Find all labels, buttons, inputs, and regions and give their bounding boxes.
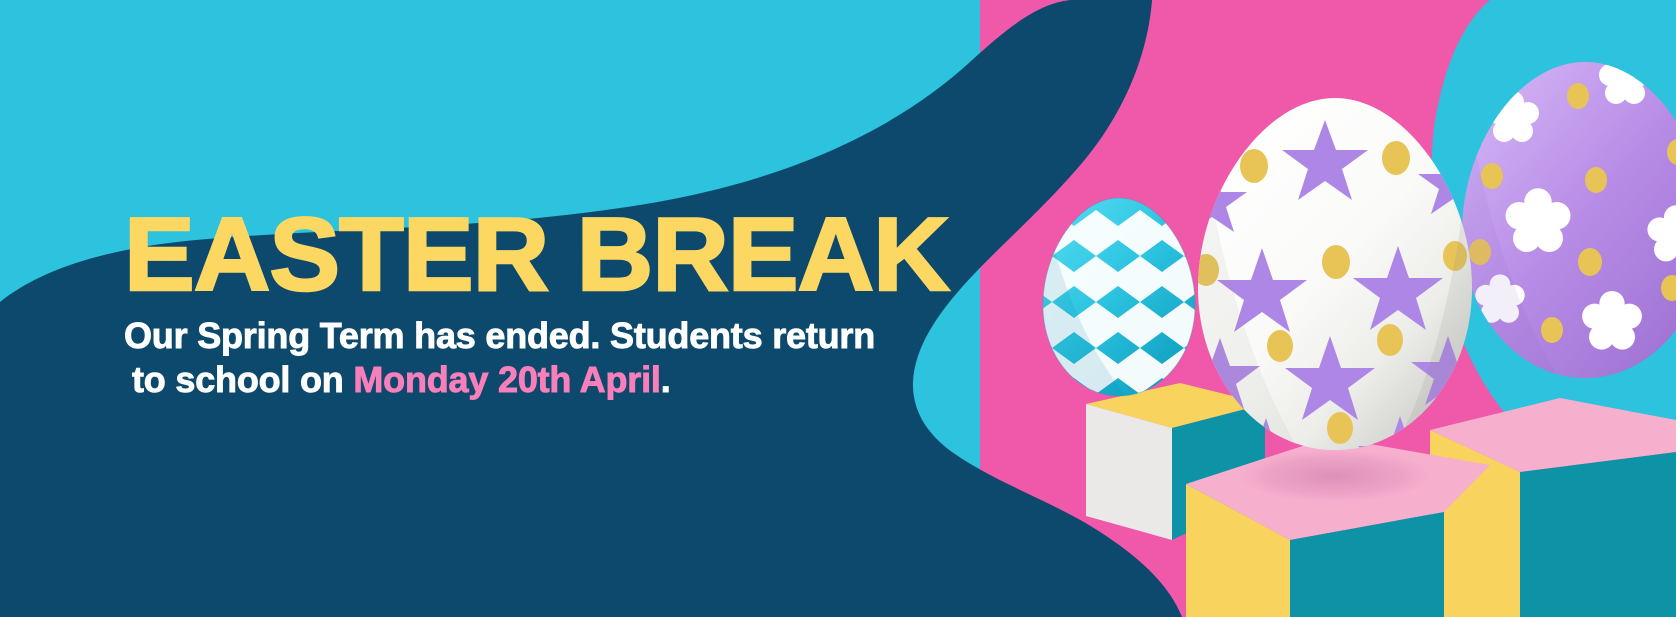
easter-break-banner: EASTER BREAK Our Spring Term has ended. …	[0, 0, 1676, 617]
chevron-egg	[1030, 198, 1206, 400]
return-date-accent: Monday 20th April	[353, 359, 660, 400]
subtitle-line-2-prefix: to school on	[132, 359, 353, 400]
banner-subtitle: Our Spring Term has ended. Students retu…	[124, 314, 944, 403]
yellow-pedestal-right	[1430, 398, 1676, 617]
flower-egg	[1462, 53, 1676, 380]
star-egg-contact-shadow	[1239, 450, 1431, 502]
white-pedestal-shade	[1086, 404, 1172, 540]
subtitle-line-1: Our Spring Term has ended. Students retu…	[124, 315, 875, 356]
right-pedestal-side	[1520, 452, 1676, 617]
page-title: EASTER BREAK	[124, 208, 960, 304]
subtitle-period: .	[661, 359, 671, 400]
banner-text-block: EASTER BREAK Our Spring Term has ended. …	[124, 208, 944, 403]
subtitle-line-2: to school on Monday 20th April.	[124, 358, 944, 403]
